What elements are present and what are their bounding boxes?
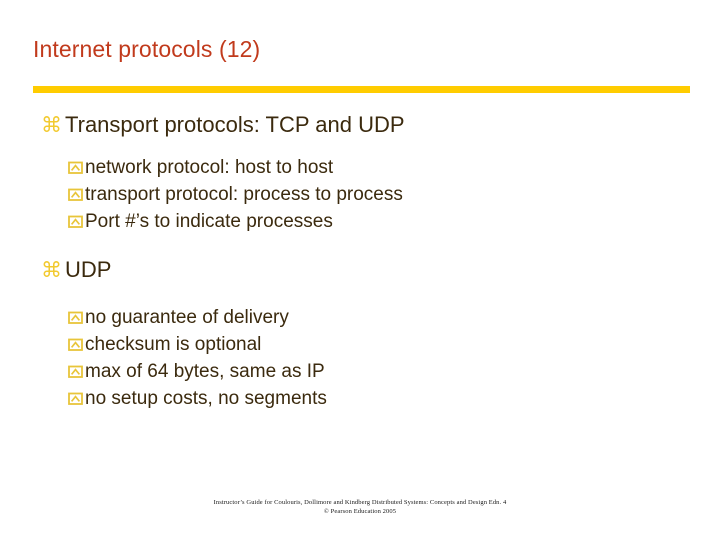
- title-block: Internet protocols (12): [33, 36, 693, 62]
- square-chevron-bullet-icon: [68, 337, 83, 352]
- bullet-level1: ⌘ UDP: [0, 255, 720, 284]
- bullet-level2-label: Port #’s to indicate processes: [85, 209, 333, 235]
- slide-body: ⌘ Transport protocols: TCP and UDP netwo…: [0, 110, 720, 414]
- square-chevron-bullet-icon: [68, 364, 83, 379]
- command-bullet-icon: ⌘: [41, 115, 62, 136]
- page-title: Internet protocols (12): [33, 36, 693, 62]
- bullet-level1-label: Transport protocols: TCP and UDP: [65, 110, 405, 139]
- bullet-level2: no guarantee of delivery: [0, 305, 720, 331]
- square-chevron-bullet-icon: [68, 310, 83, 325]
- bullet-level2: network protocol: host to host: [0, 155, 720, 181]
- bullet-level1-label: UDP: [65, 255, 111, 284]
- bullet-level2-label: transport protocol: process to process: [85, 182, 403, 208]
- bullet-level1: ⌘ Transport protocols: TCP and UDP: [0, 110, 720, 139]
- footer-attribution: Instructor’s Guide for Coulouris, Dollim…: [0, 498, 720, 507]
- spacer: [0, 287, 720, 305]
- bullet-level2: Port #’s to indicate processes: [0, 209, 720, 235]
- bullet-level2-label: no setup costs, no segments: [85, 386, 327, 412]
- bullet-level2: max of 64 bytes, same as IP: [0, 359, 720, 385]
- square-chevron-bullet-icon: [68, 187, 83, 202]
- title-divider-rule: [33, 86, 690, 93]
- footer-copyright: © Pearson Education 2005: [0, 507, 720, 516]
- bullet-level2-label: no guarantee of delivery: [85, 305, 289, 331]
- bullet-level2-label: network protocol: host to host: [85, 155, 333, 181]
- bullet-level2-label: checksum is optional: [85, 332, 261, 358]
- spacer: [0, 142, 720, 155]
- command-bullet-icon: ⌘: [41, 260, 62, 281]
- bullet-level2-label: max of 64 bytes, same as IP: [85, 359, 325, 385]
- bullet-level2: checksum is optional: [0, 332, 720, 358]
- bullet-level2: transport protocol: process to process: [0, 182, 720, 208]
- square-chevron-bullet-icon: [68, 160, 83, 175]
- spacer: [0, 237, 720, 255]
- bullet-level2: no setup costs, no segments: [0, 386, 720, 412]
- slide-footer: Instructor’s Guide for Coulouris, Dollim…: [0, 498, 720, 517]
- square-chevron-bullet-icon: [68, 391, 83, 406]
- square-chevron-bullet-icon: [68, 214, 83, 229]
- slide: Internet protocols (12) ⌘ Transport prot…: [0, 0, 720, 540]
